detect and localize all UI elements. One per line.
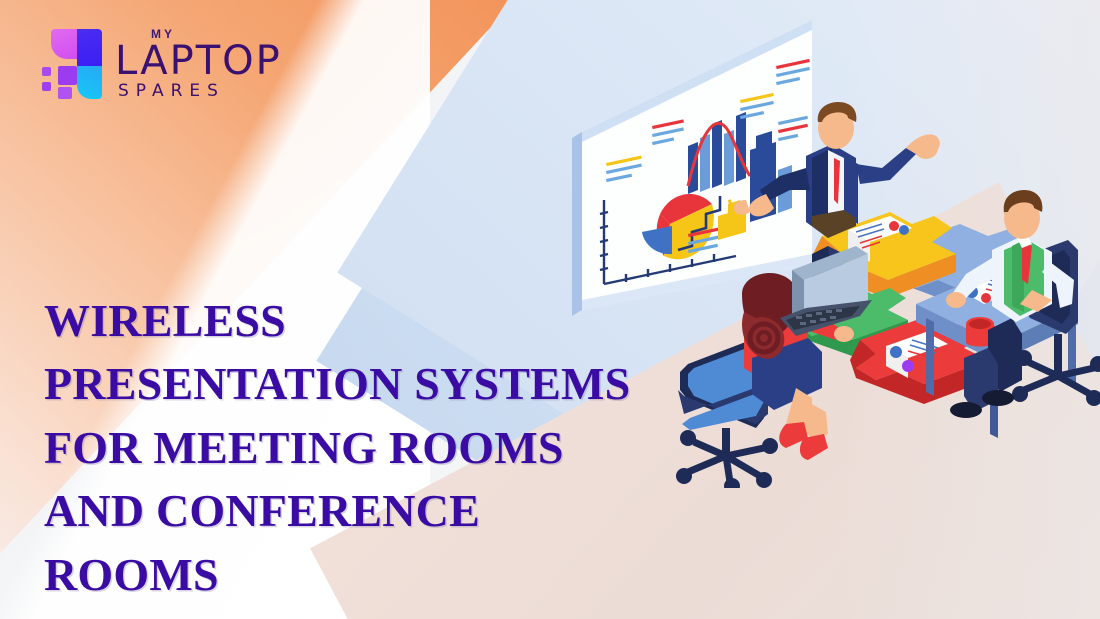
logo-mark-icon — [34, 29, 102, 99]
logo-block-magenta — [51, 29, 77, 59]
logo-wordmark: MY LAPTOP SPARES — [115, 28, 282, 100]
headline-line-5: ROOMS — [44, 543, 664, 606]
logo-block-small-2 — [42, 82, 51, 91]
logo-block-small-3 — [58, 87, 72, 99]
logo-block-small-1 — [42, 67, 51, 76]
logo-block-cyan — [77, 66, 102, 99]
logo-block-blue — [77, 29, 102, 66]
promo-banner: MY LAPTOP SPARES WIRELESS PRESENTATION S… — [0, 0, 1100, 619]
brand-logo[interactable]: MY LAPTOP SPARES — [34, 28, 282, 100]
illustration — [560, 18, 1100, 488]
logo-block-purple-mid — [58, 66, 77, 85]
logo-text-spares: SPARES — [118, 83, 282, 100]
logo-text-laptop: LAPTOP — [115, 42, 282, 80]
headline-line-4: AND CONFERENCE — [44, 479, 664, 542]
